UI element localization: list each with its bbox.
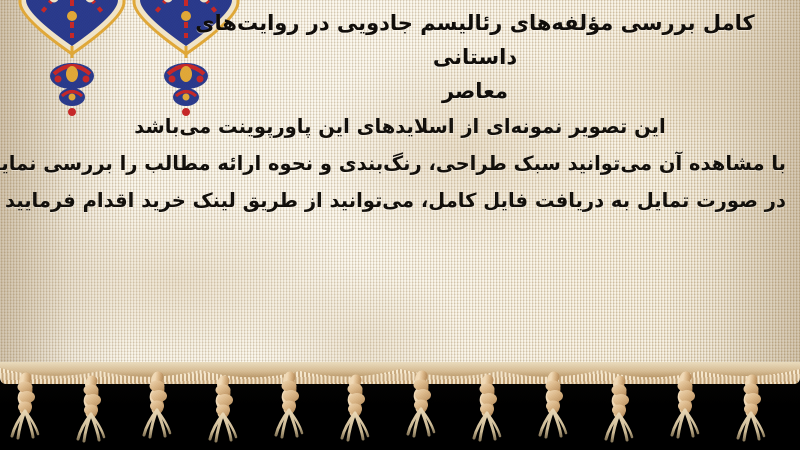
tassel-row: [12, 376, 764, 442]
slide-body-line-3: در صورت تمایل به دریافت فایل کامل، می‌تو…: [14, 182, 786, 219]
slide-title-line-2: معاصر: [442, 79, 508, 103]
carpet-fringe-band: [0, 362, 800, 450]
slide-title: کامل بررسی مؤلفه‌های رئالیسم جادویی در ر…: [150, 6, 800, 108]
slide-body-line-2: با مشاهده آن می‌توانید سبک طراحی، رنگ‌بن…: [14, 145, 786, 182]
medallion-body: [20, 0, 124, 58]
slide-body: این تصویر نمونه‌ای از اسلایدهای این پاور…: [0, 108, 800, 219]
fringe-tassels-icon: [0, 362, 800, 450]
presentation-slide: کامل بررسی مؤلفه‌های رئالیسم جادویی در ر…: [0, 0, 800, 450]
slide-body-line-1: این تصویر نمونه‌ای از اسلایدهای این پاور…: [14, 108, 786, 145]
slide-text-layer: کامل بررسی مؤلفه‌های رئالیسم جادویی در ر…: [0, 0, 800, 392]
slide-title-line-1: کامل بررسی مؤلفه‌های رئالیسم جادویی در ر…: [195, 11, 754, 69]
selvage-strip: [0, 362, 800, 377]
